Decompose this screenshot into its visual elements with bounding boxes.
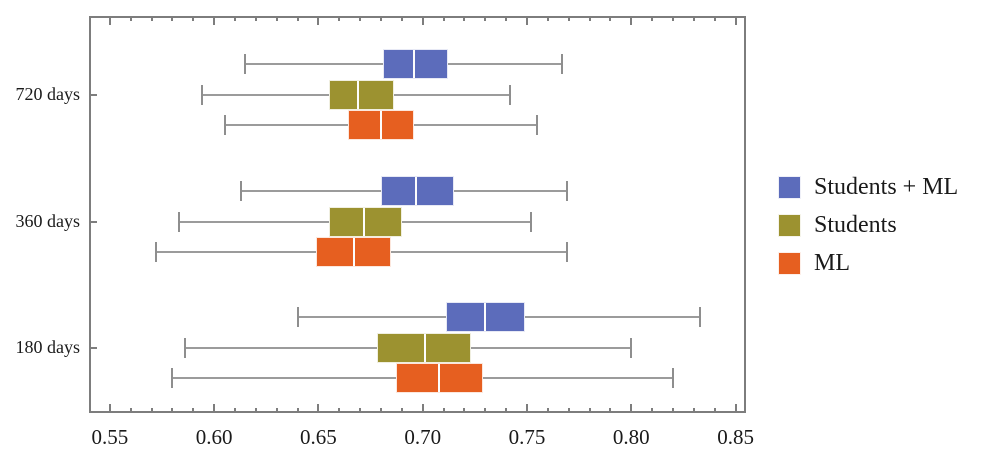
legend-item-label: ML: [814, 251, 850, 275]
x-axis-minor-tick-top: [505, 16, 507, 21]
x-axis-major-tick: [422, 404, 424, 413]
x-axis-minor-tick: [693, 408, 695, 413]
legend-color-swatch: [778, 176, 801, 199]
x-axis-minor-tick-top: [714, 16, 716, 21]
legend-item[interactable]: Students + ML: [778, 168, 993, 206]
x-axis-minor-tick-top: [192, 16, 194, 21]
whisker-cap-low: [224, 115, 226, 135]
x-axis-minor-tick-top: [297, 16, 299, 21]
x-axis-minor-tick: [151, 408, 153, 413]
x-axis-minor-tick-top: [463, 16, 465, 21]
y-axis-tick: [89, 94, 97, 96]
x-axis-major-tick: [526, 404, 528, 413]
x-axis-minor-tick: [171, 408, 173, 413]
whisker-cap-high: [561, 54, 563, 74]
x-axis-minor-tick-top: [693, 16, 695, 21]
x-axis-minor-tick: [589, 408, 591, 413]
x-axis-minor-tick: [484, 408, 486, 413]
x-axis-tick-label: 0.65: [278, 425, 358, 450]
box-plot-median: [413, 50, 415, 78]
whisker-cap-high: [699, 307, 701, 327]
x-axis-minor-tick: [505, 408, 507, 413]
legend-item[interactable]: Students: [778, 206, 993, 244]
whisker-cap-low: [155, 242, 157, 262]
whisker-cap-low: [240, 181, 242, 201]
legend-color-swatch: [778, 252, 801, 275]
x-axis-minor-tick: [651, 408, 653, 413]
box-plot-median: [424, 334, 426, 362]
x-axis-major-tick-top: [422, 16, 424, 25]
y-axis-category-label: 180 days: [2, 337, 80, 358]
x-axis-major-tick: [630, 404, 632, 413]
x-axis-minor-tick-top: [568, 16, 570, 21]
x-axis-minor-tick: [609, 408, 611, 413]
x-axis-major-tick: [735, 404, 737, 413]
x-axis-tick-label: 0.55: [70, 425, 150, 450]
x-axis-tick-label: 0.60: [174, 425, 254, 450]
x-axis-minor-tick: [130, 408, 132, 413]
x-axis-major-tick: [317, 404, 319, 413]
box-plot-box: [329, 80, 394, 110]
x-axis-minor-tick-top: [151, 16, 153, 21]
legend-item-label: Students: [814, 213, 897, 237]
x-axis-minor-tick: [359, 408, 361, 413]
box-plot-median: [353, 238, 355, 266]
x-axis-major-tick-top: [317, 16, 319, 25]
x-axis-minor-tick: [192, 408, 194, 413]
whisker-cap-low: [201, 85, 203, 105]
x-axis-minor-tick-top: [276, 16, 278, 21]
x-axis-tick-label: 0.70: [383, 425, 463, 450]
x-axis-major-tick-top: [213, 16, 215, 25]
x-axis-major-tick-top: [526, 16, 528, 25]
x-axis-minor-tick-top: [672, 16, 674, 21]
box-plot-median: [357, 81, 359, 109]
x-axis-major-tick-top: [630, 16, 632, 25]
box-plot-box: [329, 207, 402, 237]
box-plot-median: [438, 364, 440, 392]
whisker-cap-high: [566, 181, 568, 201]
y-axis-category-label: 360 days: [2, 211, 80, 232]
x-axis-major-tick-top: [109, 16, 111, 25]
whisker-cap-low: [184, 338, 186, 358]
whisker-cap-low: [178, 212, 180, 232]
x-axis-minor-tick-top: [589, 16, 591, 21]
box-plot-figure: 0.550.600.650.700.750.800.85 720 days360…: [0, 0, 1000, 463]
chart-legend: Students + MLStudentsML: [778, 168, 993, 282]
x-axis-tick-label: 0.85: [696, 425, 776, 450]
x-axis-minor-tick: [568, 408, 570, 413]
x-axis-minor-tick: [255, 408, 257, 413]
x-axis-minor-tick: [234, 408, 236, 413]
whisker-cap-low: [171, 368, 173, 388]
box-plot-box: [383, 49, 448, 79]
x-axis-major-tick: [213, 404, 215, 413]
box-plot-median: [484, 303, 486, 331]
x-axis-minor-tick: [297, 408, 299, 413]
y-axis-tick: [89, 347, 97, 349]
x-axis-minor-tick: [380, 408, 382, 413]
x-axis-minor-tick-top: [338, 16, 340, 21]
box-plot-median: [380, 111, 382, 139]
x-axis-minor-tick-top: [443, 16, 445, 21]
whisker-cap-high: [530, 212, 532, 232]
x-axis-minor-tick-top: [484, 16, 486, 21]
x-axis-minor-tick: [714, 408, 716, 413]
legend-item-label: Students + ML: [814, 175, 958, 199]
box-plot-box: [381, 176, 454, 206]
y-axis-category-label: 720 days: [2, 84, 80, 105]
x-axis-minor-tick-top: [130, 16, 132, 21]
x-axis-minor-tick-top: [359, 16, 361, 21]
x-axis-minor-tick: [338, 408, 340, 413]
whisker-cap-high: [509, 85, 511, 105]
whisker-cap-high: [566, 242, 568, 262]
x-axis-minor-tick: [401, 408, 403, 413]
whisker-cap-high: [672, 368, 674, 388]
x-axis-minor-tick: [443, 408, 445, 413]
x-axis-minor-tick-top: [380, 16, 382, 21]
box-plot-median: [363, 208, 365, 236]
whisker-cap-high: [630, 338, 632, 358]
legend-item[interactable]: ML: [778, 244, 993, 282]
x-axis-minor-tick-top: [401, 16, 403, 21]
x-axis-minor-tick-top: [609, 16, 611, 21]
x-axis-minor-tick: [672, 408, 674, 413]
box-plot-median: [415, 177, 417, 205]
x-axis-major-tick-top: [735, 16, 737, 25]
x-axis-tick-label: 0.75: [487, 425, 567, 450]
x-axis-minor-tick-top: [234, 16, 236, 21]
x-axis-major-tick: [109, 404, 111, 413]
whisker-cap-high: [536, 115, 538, 135]
x-axis-minor-tick: [463, 408, 465, 413]
legend-color-swatch: [778, 214, 801, 237]
x-axis-minor-tick: [276, 408, 278, 413]
x-axis-minor-tick: [547, 408, 549, 413]
whisker-cap-low: [244, 54, 246, 74]
x-axis-tick-label: 0.80: [591, 425, 671, 450]
x-axis-minor-tick-top: [651, 16, 653, 21]
x-axis-minor-tick-top: [171, 16, 173, 21]
x-axis-minor-tick-top: [255, 16, 257, 21]
y-axis-tick: [89, 221, 97, 223]
x-axis-minor-tick-top: [547, 16, 549, 21]
whisker-cap-low: [297, 307, 299, 327]
